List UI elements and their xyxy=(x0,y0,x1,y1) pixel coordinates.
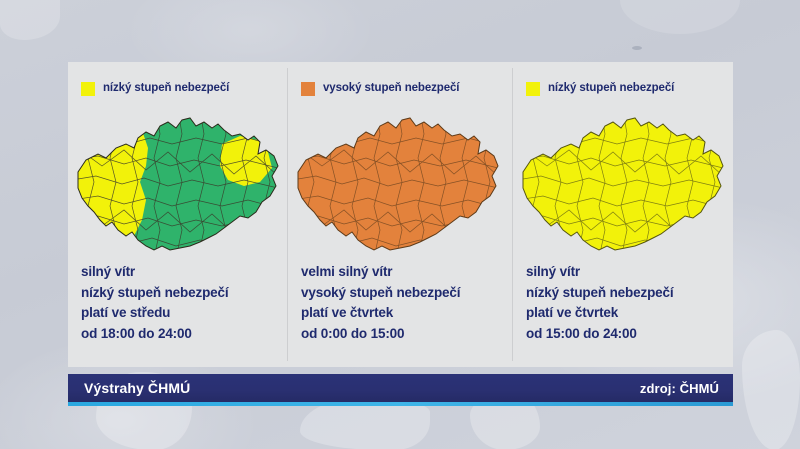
warning-description-1: silný vítr nízký stupeň nebezpečí platí … xyxy=(81,262,229,344)
background-landmass-shape xyxy=(742,330,800,449)
warning-line: od 0:00 do 15:00 xyxy=(301,324,460,345)
warning-line: silný vítr xyxy=(81,262,229,283)
warning-line: platí ve čtvrtek xyxy=(526,303,674,324)
legend-label: nízký stupeň nebezpečí xyxy=(103,83,229,95)
warning-line: platí ve středu xyxy=(81,303,229,324)
legend-3: nízký stupeň nebezpečí xyxy=(526,82,674,96)
background-speck xyxy=(632,46,642,50)
legend-1: nízký stupeň nebezpečí xyxy=(81,82,229,96)
warning-line: platí ve čtvrtek xyxy=(301,303,460,324)
high-danger-swatch xyxy=(301,82,315,96)
warning-line: od 15:00 do 24:00 xyxy=(526,324,674,345)
forecast-card: nízký stupeň nebezpečí xyxy=(68,62,733,367)
czech-republic-map-thursday-afternoon xyxy=(517,110,729,258)
warning-line: nízký stupeň nebezpečí xyxy=(81,283,229,304)
legend-2: vysoký stupeň nebezpečí xyxy=(301,82,459,96)
broadcast-graphic: nízký stupeň nebezpečí xyxy=(0,0,800,449)
bottom-bar-accent-line xyxy=(68,402,733,406)
warning-line: vysoký stupeň nebezpečí xyxy=(301,283,460,304)
graphic-title: Výstrahy ČHMÚ xyxy=(84,380,190,396)
background-cloud-shape xyxy=(620,0,740,34)
warning-description-3: silný vítr nízký stupeň nebezpečí platí … xyxy=(526,262,674,344)
background-cloud-shape xyxy=(0,0,60,40)
legend-label: nízký stupeň nebezpečí xyxy=(548,83,674,95)
warning-description-2: velmi silný vítr vysoký stupeň nebezpečí… xyxy=(301,262,460,344)
low-danger-swatch xyxy=(526,82,540,96)
warning-panel-1: nízký stupeň nebezpečí xyxy=(68,62,287,367)
low-danger-swatch xyxy=(81,82,95,96)
legend-label: vysoký stupeň nebezpečí xyxy=(323,83,459,95)
warning-line: velmi silný vítr xyxy=(301,262,460,283)
warning-panel-3: nízký stupeň nebezpečí xyxy=(513,62,732,367)
warning-panel-2: vysoký stupeň nebezpečí xyxy=(288,62,507,367)
czech-republic-map-thursday-morning xyxy=(292,110,504,258)
warning-line: nízký stupeň nebezpečí xyxy=(526,283,674,304)
source-attribution: zdroj: ČHMÚ xyxy=(640,381,719,396)
bottom-title-bar: Výstrahy ČHMÚ zdroj: ČHMÚ xyxy=(68,374,733,402)
warning-line: od 18:00 do 24:00 xyxy=(81,324,229,345)
czech-republic-map-wednesday xyxy=(72,110,284,258)
warning-line: silný vítr xyxy=(526,262,674,283)
